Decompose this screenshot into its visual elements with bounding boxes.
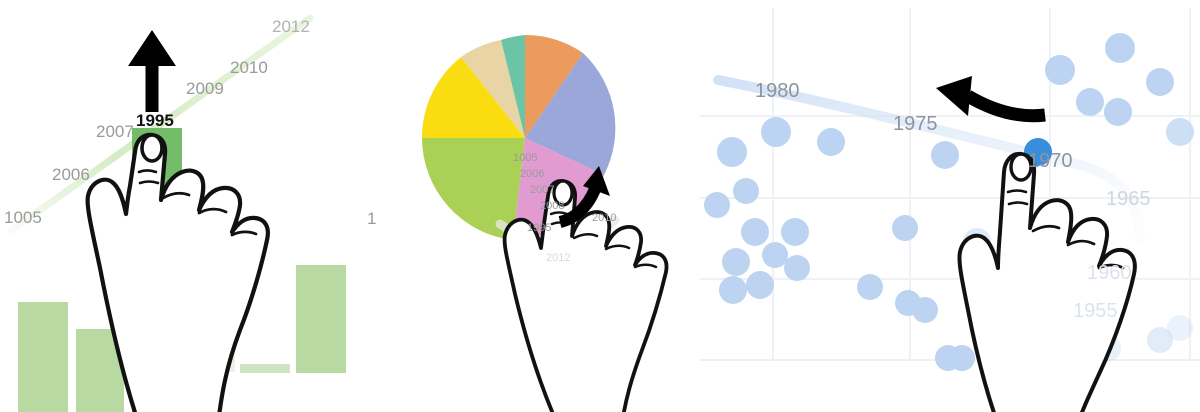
pie-label-2006: 2006 xyxy=(520,168,544,180)
swipe-left-arrow-icon xyxy=(936,76,1045,116)
drag-up-arrow-icon xyxy=(128,30,176,112)
bar-axis-label-2006: 2006 xyxy=(52,165,90,185)
pie-chart-panel[interactable]: 1005 2006 2007 2008 1995 2010 2012 xyxy=(400,0,700,412)
pie-label-2007: 2007 xyxy=(530,184,554,196)
bar-axis-label-1005: 1005 xyxy=(4,208,42,228)
pie-label-2008: 2008 xyxy=(540,200,564,212)
bar-selected-label-1995: 1995 xyxy=(136,111,174,131)
bar-axis-label-2009: 2009 xyxy=(186,79,224,99)
scatter-axis-label-1965: 1965 xyxy=(1106,188,1151,211)
scatter-axis-label-1970: 1970 xyxy=(1028,150,1073,173)
bar-chart-panel[interactable]: 1005 2006 2007 2009 2010 2012 1 1995 xyxy=(0,0,400,412)
scatter-axis-label-1980: 1980 xyxy=(755,80,800,103)
scatter-axis-label-1975: 1975 xyxy=(893,113,938,136)
bar-axis-label-2007: 2007 xyxy=(96,122,134,142)
scatter-axis-label-1955: 1955 xyxy=(1073,300,1118,323)
bar-axis-label-2012: 2012 xyxy=(272,17,310,37)
pie-label-1995: 1995 xyxy=(527,222,551,234)
scatter-plot-panel[interactable]: 1980 1975 1970 1965 1960 1955 xyxy=(700,0,1200,412)
pie-label-2010: 2010 xyxy=(592,212,616,224)
figure-root: 1005 2006 2007 2009 2010 2012 1 1995 xyxy=(0,0,1200,412)
scatter-axis-label-1960: 1960 xyxy=(1087,262,1132,285)
pie-label-1005: 1005 xyxy=(513,152,537,164)
pie-label-2012: 2012 xyxy=(546,252,570,264)
bar-axis-label-2010: 2010 xyxy=(230,58,268,78)
bar-1005 xyxy=(18,302,68,412)
bar-2009 xyxy=(240,364,290,373)
bar-chart-canvas xyxy=(0,0,400,412)
bar-axis-label-1: 1 xyxy=(367,209,376,229)
bar-2010 xyxy=(296,265,346,373)
